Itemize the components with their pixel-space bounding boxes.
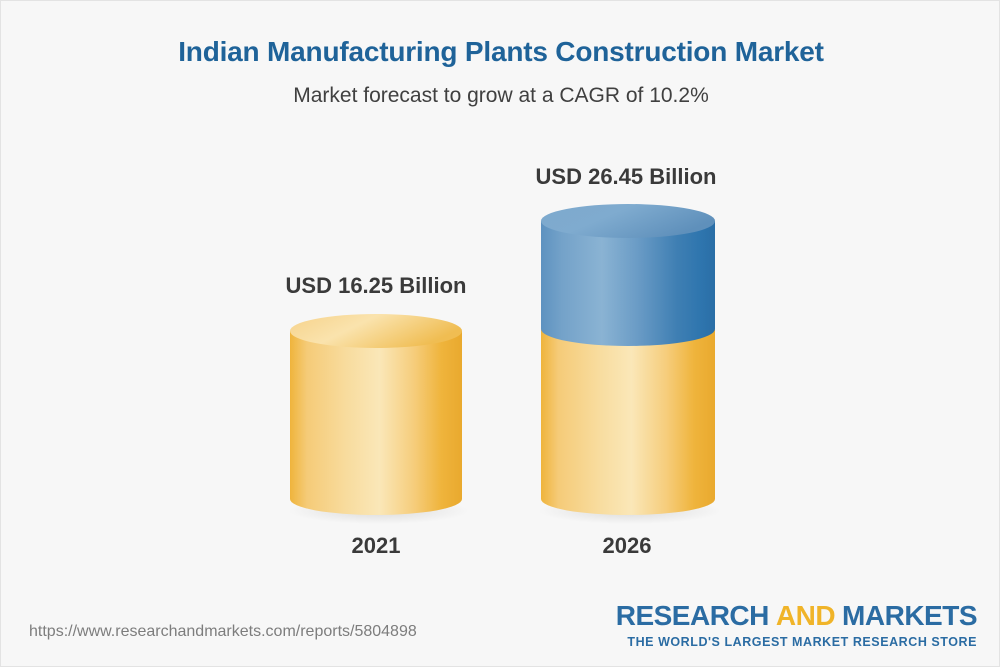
chart-plot-area: USD 16.25 Billion: [1, 1, 1000, 668]
logo-wordmark: RESEARCHANDMARKETS: [616, 602, 977, 630]
bar-category-label-2026: 2026: [467, 533, 787, 559]
logo-word-and: AND: [776, 600, 835, 631]
cylinder-2026-segment-base: [541, 329, 715, 515]
cylinder-2026-top: [541, 204, 715, 238]
cylinder-2021-top: [290, 314, 462, 348]
infographic-card: Indian Manufacturing Plants Construction…: [0, 0, 1000, 667]
cylinder-bar-2026: [537, 201, 719, 531]
bar-value-label-2021: USD 16.25 Billion: [216, 273, 536, 299]
cylinder-2026-svg: [537, 201, 719, 526]
cylinder-2021-body: [290, 331, 462, 515]
logo-word-markets: MARKETS: [842, 600, 977, 631]
report-url[interactable]: https://www.researchandmarkets.com/repor…: [29, 623, 417, 641]
cylinder-2021-svg: [287, 311, 467, 526]
bar-value-label-2026: USD 26.45 Billion: [466, 164, 786, 190]
logo-word-research: RESEARCH: [616, 600, 769, 631]
cylinder-2026-segment-growth: [541, 221, 715, 346]
cylinder-bar-2021: [287, 311, 467, 531]
brand-logo[interactable]: RESEARCHANDMARKETS THE WORLD'S LARGEST M…: [616, 602, 977, 649]
logo-tagline: THE WORLD'S LARGEST MARKET RESEARCH STOR…: [616, 635, 977, 649]
